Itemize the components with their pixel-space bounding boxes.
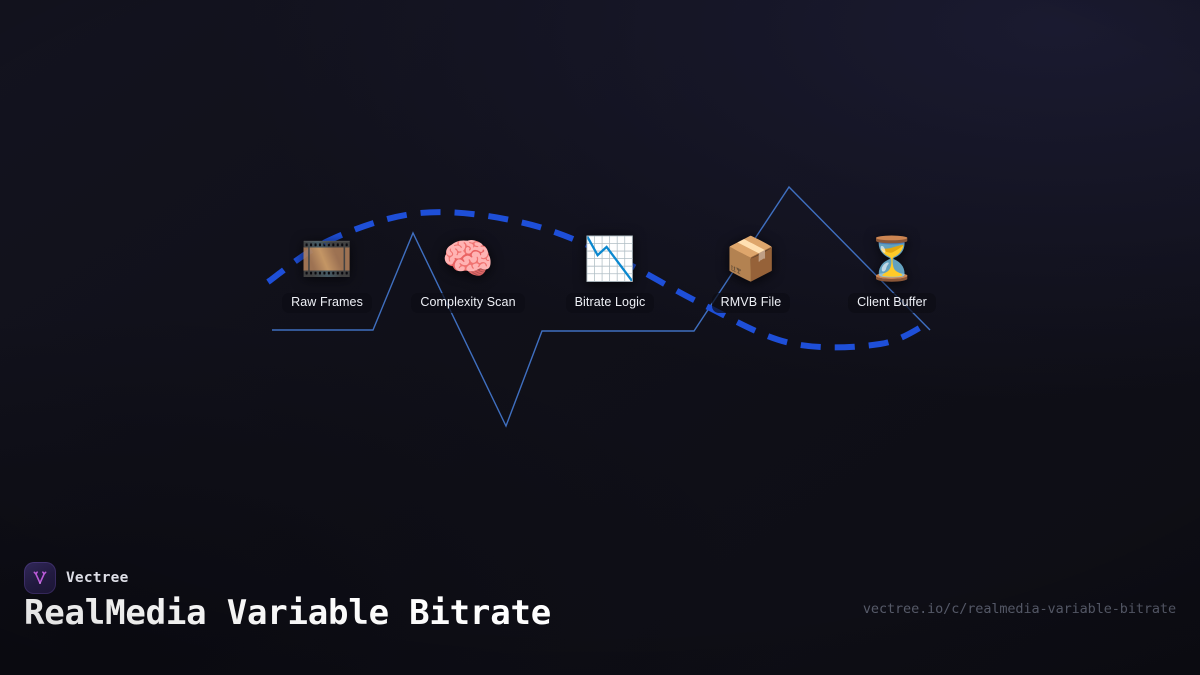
pipeline-node-label: Complexity Scan (411, 293, 524, 313)
pipeline-node-0[interactable]: 🎞️Raw Frames (247, 235, 407, 313)
brain-icon: 🧠 (388, 235, 548, 287)
brand-row: Vectree (24, 562, 129, 594)
film-frames-icon: 🎞️ (247, 235, 407, 287)
footer-url: vectree.io/c/realmedia-variable-bitrate (863, 601, 1176, 617)
pipeline-node-3[interactable]: 📦RMVB File (671, 235, 831, 313)
pipeline-node-2[interactable]: 📉Bitrate Logic (530, 235, 690, 313)
page-title: RealMedia Variable Bitrate (24, 593, 551, 633)
pipeline-node-label: Client Buffer (848, 293, 936, 313)
pipeline-node-4[interactable]: ⏳Client Buffer (812, 235, 972, 313)
pipeline-node-label: RMVB File (712, 293, 791, 313)
pipeline-node-label: Raw Frames (282, 293, 372, 313)
chart-decreasing-icon: 📉 (530, 235, 690, 287)
package-box-icon: 📦 (671, 235, 831, 287)
vectree-v-logo-icon (24, 562, 56, 594)
brand-name: Vectree (66, 570, 129, 586)
hourglass-flowing-icon: ⏳ (812, 235, 972, 287)
pipeline-node-1[interactable]: 🧠Complexity Scan (388, 235, 548, 313)
pipeline-diagram: 🎞️Raw Frames🧠Complexity Scan📉Bitrate Log… (0, 0, 1200, 545)
footer: Vectree RealMedia Variable Bitrate vectr… (0, 545, 1200, 675)
pipeline-node-label: Bitrate Logic (566, 293, 655, 313)
slide-card: 🎞️Raw Frames🧠Complexity Scan📉Bitrate Log… (0, 0, 1200, 675)
pipeline-node-list: 🎞️Raw Frames🧠Complexity Scan📉Bitrate Log… (0, 0, 1200, 545)
